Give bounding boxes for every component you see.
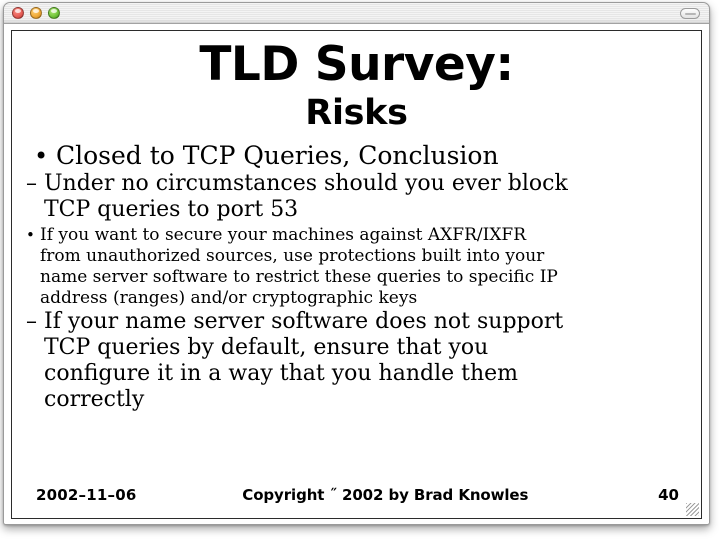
slide-title-secondary: Risks <box>26 91 687 135</box>
bullet-text: If your name server software does not su… <box>44 309 584 413</box>
dash-marker-icon: – <box>26 171 44 197</box>
slide-title-block: TLD Survey: Risks <box>26 39 687 135</box>
presentation-slide: TLD Survey: Risks • Closed to TCP Querie… <box>11 30 702 519</box>
bullet-marker-icon: • <box>26 225 40 246</box>
slide-content: TLD Survey: Risks • Closed to TCP Querie… <box>12 31 701 518</box>
bullet-list-level-2: – Under no circumstances should you ever… <box>26 171 687 223</box>
footer-page-number: 40 <box>658 486 679 504</box>
zoom-button-icon[interactable] <box>48 7 60 19</box>
minimize-button-icon[interactable] <box>30 7 42 19</box>
bullet-item: – Under no circumstances should you ever… <box>26 171 687 223</box>
bullet-item: • If you want to secure your machines ag… <box>26 225 687 309</box>
bullet-item: – If your name server software does not … <box>26 309 687 413</box>
bullet-text: Closed to TCP Queries, Conclusion <box>56 141 687 171</box>
window-frame: TLD Survey: Risks • Closed to TCP Querie… <box>3 2 710 525</box>
bullet-list-level-2: – If your name server software does not … <box>26 309 687 413</box>
footer-copyright: Copyright ˝ 2002 by Brad Knowles <box>137 486 659 504</box>
slide-title-primary: TLD Survey: <box>26 39 687 91</box>
slide-viewer-window: TLD Survey: Risks • Closed to TCP Querie… <box>0 0 719 539</box>
close-button-icon[interactable] <box>12 7 24 19</box>
bullet-item: • Closed to TCP Queries, Conclusion <box>34 141 687 171</box>
bullet-list-level-3: • If you want to secure your machines ag… <box>26 225 687 309</box>
dash-marker-icon: – <box>26 309 44 335</box>
window-content-area: TLD Survey: Risks • Closed to TCP Querie… <box>4 24 709 525</box>
bullet-text: Under no circumstances should you ever b… <box>44 171 584 223</box>
bullet-list-level-1: • Closed to TCP Queries, Conclusion <box>26 141 687 171</box>
window-traffic-lights <box>12 7 60 19</box>
slide-footer: 2002–11–06 Copyright ˝ 2002 by Brad Know… <box>12 486 701 504</box>
footer-date: 2002–11–06 <box>36 486 137 504</box>
toolbar-toggle-button[interactable] <box>680 8 700 19</box>
bullet-marker-icon: • <box>34 141 56 171</box>
slide-body: • Closed to TCP Queries, Conclusion – Un… <box>26 141 687 413</box>
window-titlebar[interactable] <box>4 3 709 24</box>
bullet-text: If you want to secure your machines agai… <box>40 225 570 309</box>
